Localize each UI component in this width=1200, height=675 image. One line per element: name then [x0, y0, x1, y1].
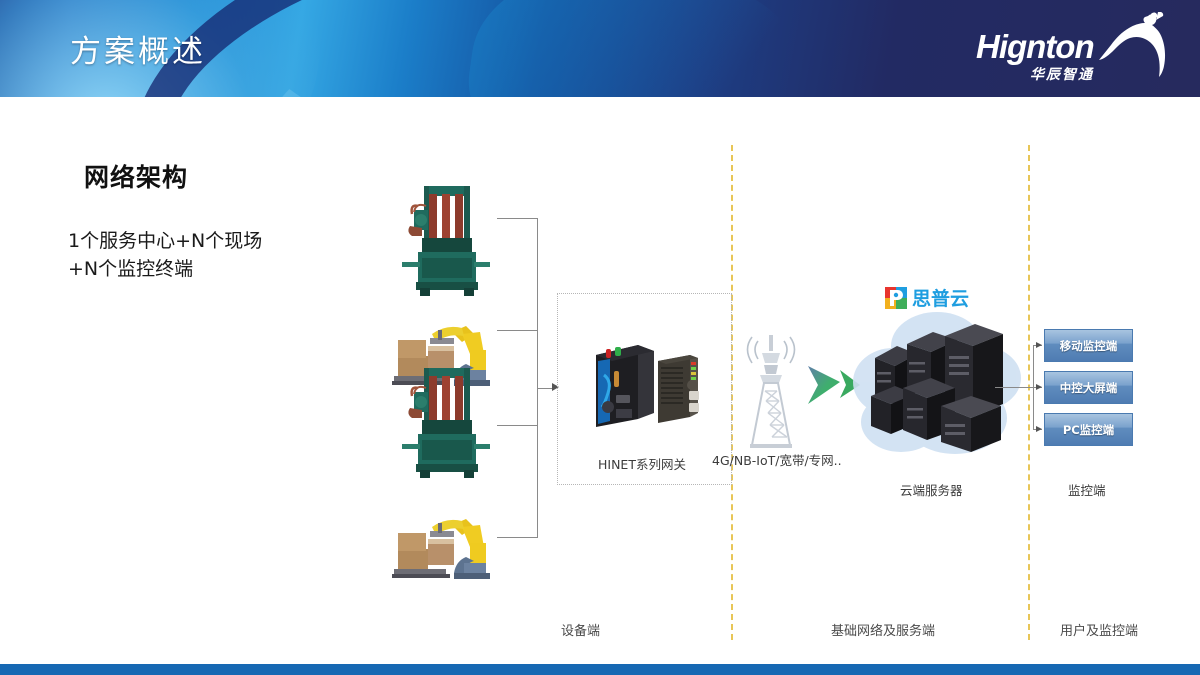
equipment-bracket-branch [497, 425, 538, 426]
terminal-box-mobile[interactable]: 移动监控端 [1044, 329, 1133, 362]
industrial-gateway-device [586, 335, 704, 433]
equipment-bracket-branch [497, 537, 538, 538]
network-label: 4G/NB-IoT/宽带/专网.. [712, 450, 842, 469]
logo-subtitle: 华辰智通 [1030, 64, 1094, 84]
header-swoosh-fade [456, 0, 813, 97]
slide-header: 方案概述 Hignton 华辰智通 [0, 0, 1200, 97]
terminal-arrow-head [1036, 342, 1042, 348]
cell-tower-icon [740, 325, 802, 450]
section-body-line: +N个监控终端 [68, 256, 368, 284]
antelope-logo-icon [1098, 12, 1174, 78]
cloud-to-terminals-line [995, 387, 1033, 388]
zone-label-device: 设备端 [561, 620, 600, 639]
zone-label-network-service: 基础网络及服务端 [831, 620, 935, 639]
terminals-group-label: 监控端 [1068, 480, 1106, 499]
baling-press-machine [396, 368, 494, 480]
section-heading: 网络架构 [84, 158, 188, 194]
gateway-label: HINET系列网关 [598, 454, 686, 473]
page-title: 方案概述 [70, 26, 206, 71]
footer-bar [0, 664, 1200, 675]
baling-press-machine [396, 186, 494, 298]
equipment-bracket-branch [497, 218, 538, 219]
zone-label-user-monitor: 用户及监控端 [1060, 620, 1138, 639]
zone-divider-2 [1028, 145, 1030, 640]
terminal-box-control-screen[interactable]: 中控大屏端 [1044, 371, 1133, 404]
server-racks-cloud [845, 300, 1025, 472]
terminal-box-pc[interactable]: PC监控端 [1044, 413, 1133, 446]
equipment-bracket-spine [537, 218, 538, 538]
equipment-bracket-branch [497, 330, 538, 331]
section-body-line: 1个服务中心+N个现场 [68, 228, 368, 256]
palletizing-robot-arm [392, 505, 496, 583]
terminal-arrow-head [1036, 426, 1042, 432]
section-body-text: 1个服务中心+N个现场+N个监控终端 [68, 228, 368, 283]
terminal-arrow-head [1036, 384, 1042, 390]
slide-root: 方案概述 Hignton 华辰智通 网络架构 1个服务中心+N个现场+N个监控终… [0, 0, 1200, 675]
brand-logo: Hignton 华辰智通 [976, 12, 1176, 88]
logo-wordmark: Hignton [976, 28, 1094, 66]
cloud-label: 云端服务器 [900, 480, 963, 499]
